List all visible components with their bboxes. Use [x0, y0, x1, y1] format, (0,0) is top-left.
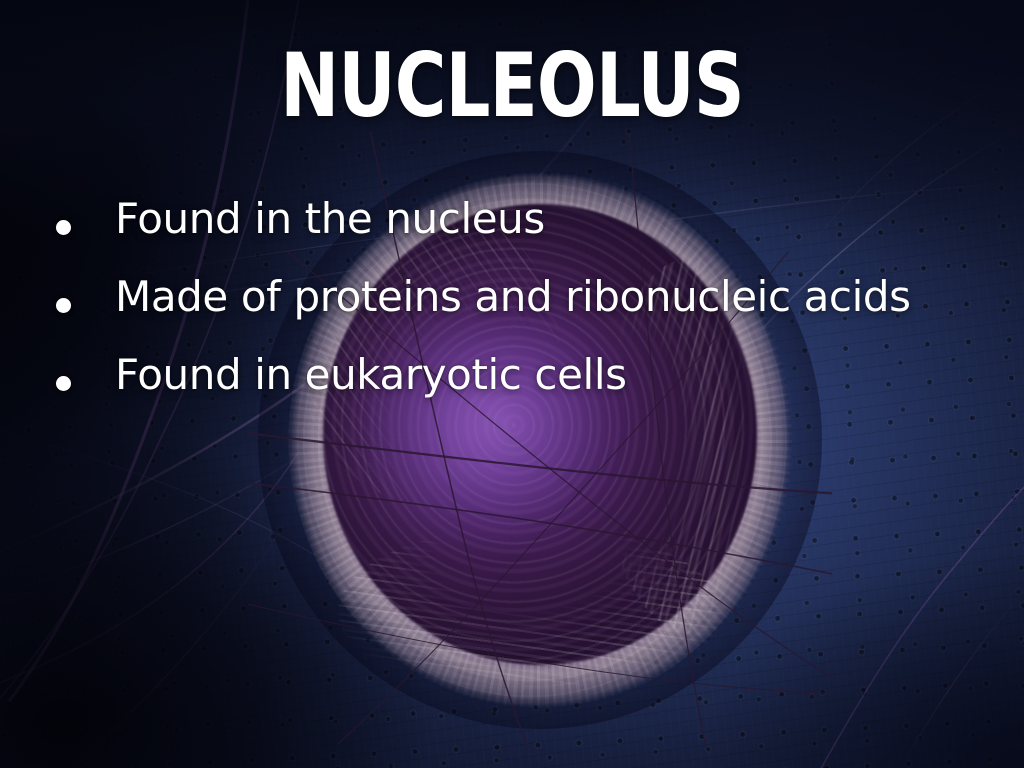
bullet-marker-icon [56, 376, 71, 391]
slide-title: NUCLEOLUS [102, 44, 921, 128]
bullet-text-1: Found in the nucleus [115, 198, 545, 240]
bullet-marker-icon [56, 298, 71, 313]
bullet-item-3: Found in eukaryotic cells [56, 354, 1004, 432]
bullet-marker-icon [56, 220, 71, 235]
bullet-text-3: Found in eukaryotic cells [115, 354, 627, 396]
bullet-item-2: Made of proteins and ribonucleic acids [56, 276, 1004, 354]
bullet-text-2: Made of proteins and ribonucleic acids [115, 276, 911, 318]
bullet-item-1: Found in the nucleus [56, 198, 1004, 276]
presentation-slide: NUCLEOLUS Found in the nucleus Made of p… [0, 0, 1024, 768]
bullet-list: Found in the nucleus Made of proteins an… [56, 198, 1004, 432]
